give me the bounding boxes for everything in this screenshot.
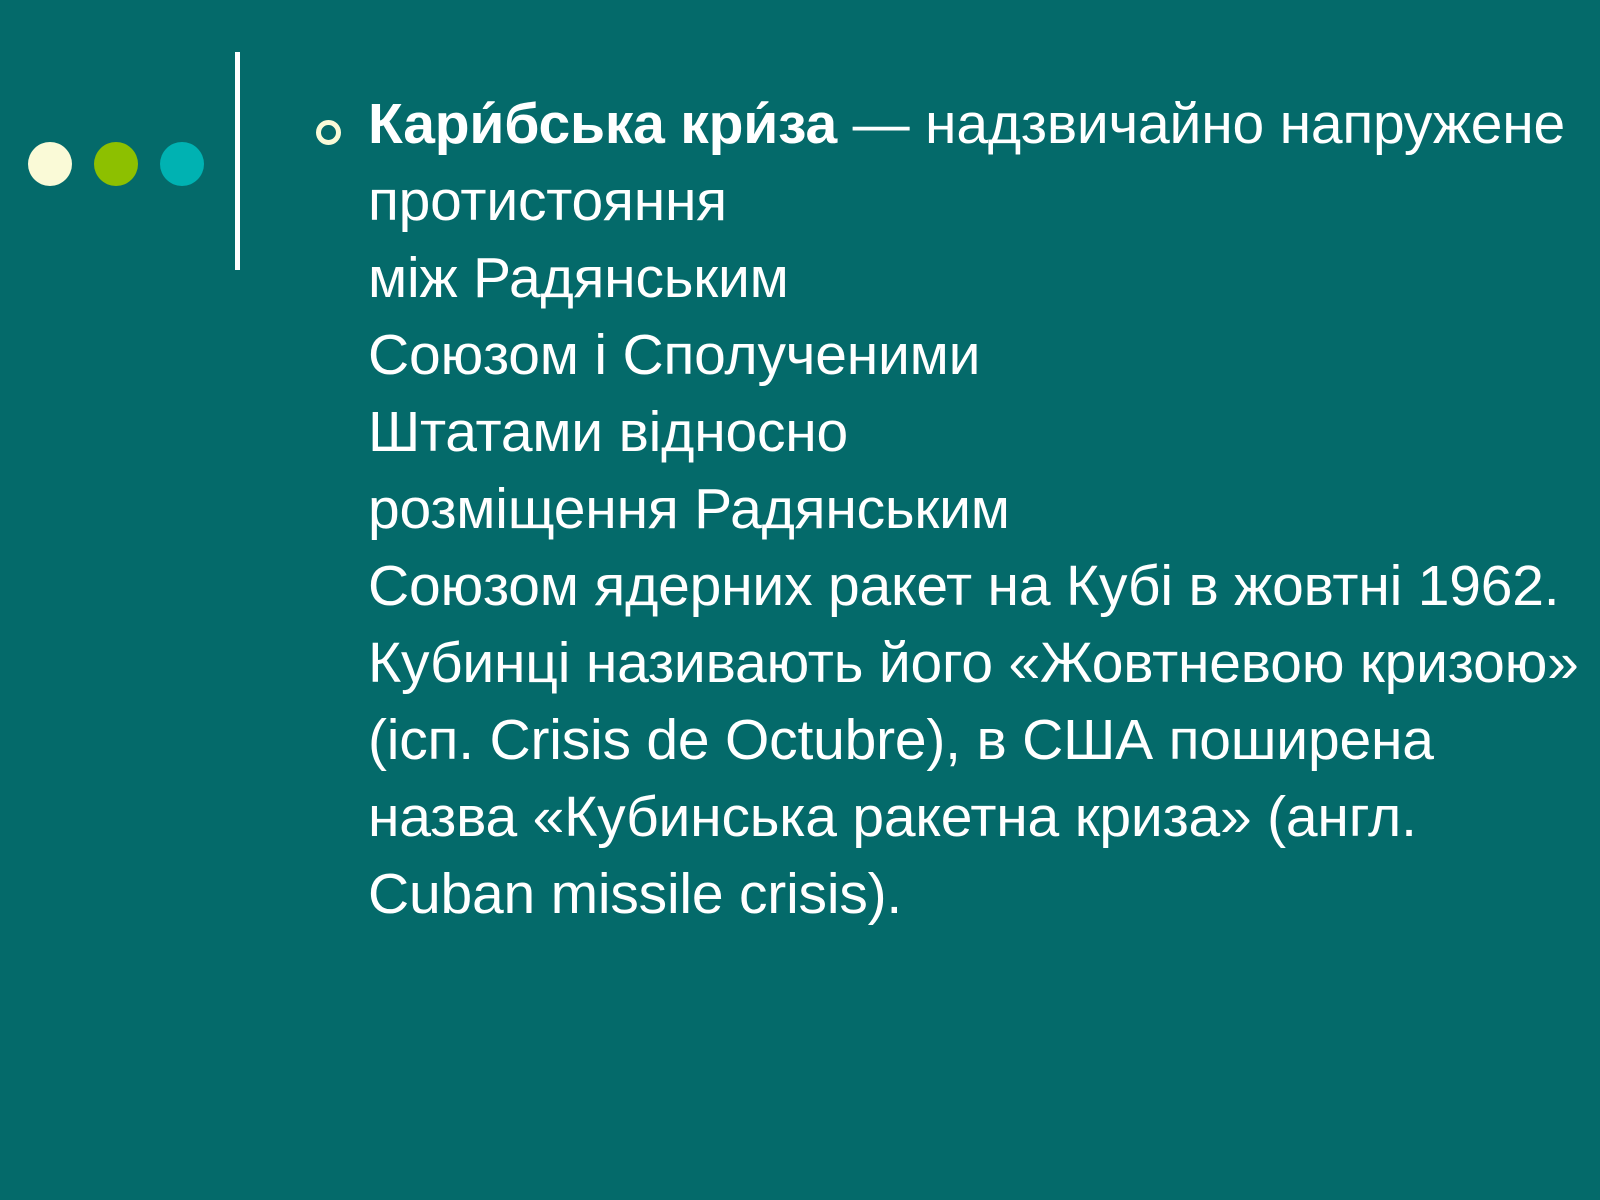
term-lead: Кари́бська кри́за [368,92,837,156]
vertical-accent-rule [235,52,240,270]
teal-dot-icon [160,142,204,186]
definition-body: — надзвичайно напружене протистояння між… [368,92,1579,926]
slide-content-block: Кари́бська кри́за — надзвичайно напружен… [300,86,1590,933]
definition-paragraph: Кари́бська кри́за — надзвичайно напружен… [300,86,1590,933]
green-dot-icon [94,142,138,186]
cream-dot-icon [28,142,72,186]
decorative-dot-cluster [28,142,204,186]
bullet-paragraph: Кари́бська кри́за — надзвичайно напружен… [300,86,1590,933]
hollow-circle-bullet-icon [316,120,341,145]
presentation-slide: Кари́бська кри́за — надзвичайно напружен… [0,0,1600,1200]
